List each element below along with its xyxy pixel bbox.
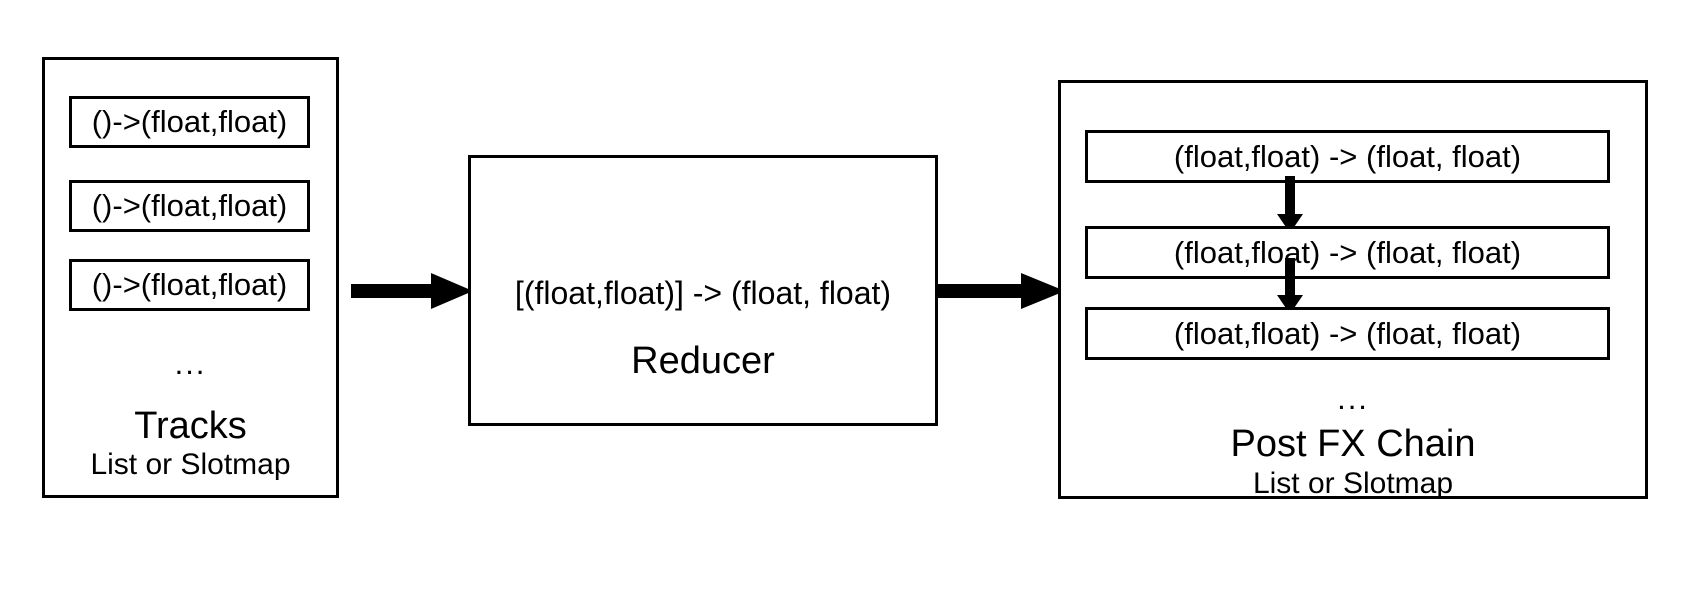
tracks-panel-title: Tracks bbox=[42, 407, 339, 445]
track-item-box[interactable]: ()->(float,float) bbox=[69, 259, 310, 311]
reducer-box[interactable]: [(float,float)] -> (float, float) Reduce… bbox=[468, 155, 938, 426]
diagram-canvas: ()->(float,float) ()->(float,float) ()->… bbox=[0, 0, 1694, 600]
arrow-right-icon bbox=[351, 271, 473, 311]
fx-item-box[interactable]: (float,float) -> (float, float) bbox=[1085, 130, 1610, 183]
tracks-panel-subtitle: List or Slotmap bbox=[42, 450, 339, 480]
track-item-box[interactable]: ()->(float,float) bbox=[69, 96, 310, 148]
fx-item-label: (float,float) -> (float, float) bbox=[1174, 139, 1521, 175]
tracks-ellipsis: ... bbox=[42, 348, 339, 379]
reducer-signature: [(float,float)] -> (float, float) bbox=[471, 275, 935, 312]
track-item-label: ()->(float,float) bbox=[92, 188, 288, 224]
track-item-box[interactable]: ()->(float,float) bbox=[69, 180, 310, 232]
fx-chain-arrow bbox=[1272, 176, 1308, 233]
fx-item-label: (float,float) -> (float, float) bbox=[1174, 235, 1521, 271]
reducer-title: Reducer bbox=[471, 340, 935, 383]
fx-item-box[interactable]: (float,float) -> (float, float) bbox=[1085, 226, 1610, 279]
track-item-label: ()->(float,float) bbox=[92, 104, 288, 140]
arrow-down-icon bbox=[1272, 258, 1308, 314]
arrow-down-icon bbox=[1272, 176, 1308, 233]
postfx-panel-title: Post FX Chain bbox=[1058, 425, 1648, 463]
arrow-reducer-to-postfx bbox=[937, 271, 1065, 311]
arrow-right-icon bbox=[937, 271, 1065, 311]
arrow-tracks-to-reducer bbox=[351, 271, 473, 311]
postfx-ellipsis: ... bbox=[1058, 383, 1648, 414]
postfx-panel-subtitle: List or Slotmap bbox=[1058, 469, 1648, 499]
fx-item-box[interactable]: (float,float) -> (float, float) bbox=[1085, 307, 1610, 360]
fx-chain-arrow bbox=[1272, 258, 1308, 314]
fx-item-label: (float,float) -> (float, float) bbox=[1174, 316, 1521, 352]
track-item-label: ()->(float,float) bbox=[92, 267, 288, 303]
